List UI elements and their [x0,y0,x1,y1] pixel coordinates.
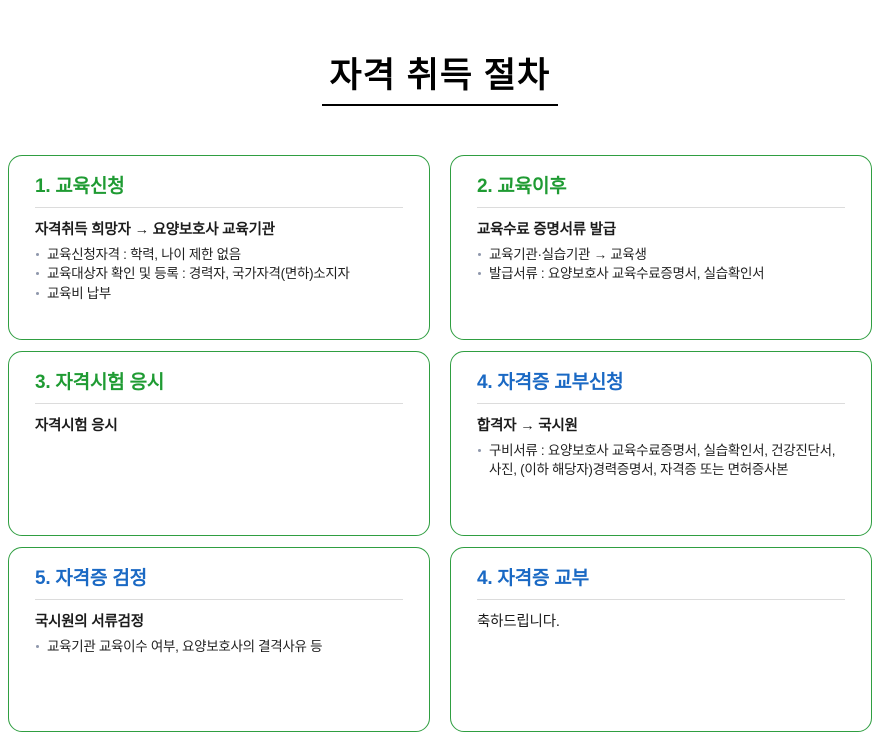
card-title: 5. 자격증 검정 [35,568,403,599]
card-bullet-item: 교육신청자격 : 학력, 나이 제한 없음 [35,245,403,265]
card-lead-text: 자격시험 응시 [35,417,403,437]
process-step-card: 2. 교육이후교육수료 증명서류 발급교육기관·실습기관 → 교육생발급서류 :… [450,155,872,340]
card-bullet-list: 교육신청자격 : 학력, 나이 제한 없음교육대상자 확인 및 등록 : 경력자… [35,245,403,304]
card-title: 4. 자격증 교부신청 [477,372,845,403]
card-lead-text: 국시원의 서류검정 [35,613,403,633]
page-header: 자격 취득 절차 [0,0,880,129]
card-lead-text: 합격자 → 국시원 [477,417,845,437]
card-body: 교육수료 증명서류 발급교육기관·실습기관 → 교육생발급서류 : 요양보호사 … [477,221,845,284]
card-divider [477,599,845,600]
card-bullet-list: 교육기관 교육이수 여부, 요양보호사의 결격사유 등 [35,637,403,657]
card-lead-text: 교육수료 증명서류 발급 [477,221,845,241]
card-title: 4. 자격증 교부 [477,568,845,599]
card-title: 2. 교육이후 [477,176,845,207]
process-step-card: 4. 자격증 교부신청합격자 → 국시원구비서류 : 요양보호사 교육수료증명서… [450,351,872,536]
process-step-card: 5. 자격증 검정국시원의 서류검정교육기관 교육이수 여부, 요양보호사의 결… [8,547,430,732]
card-divider [477,207,845,208]
card-divider [477,403,845,404]
process-step-card: 3. 자격시험 응시자격시험 응시 [8,351,430,536]
card-bullet-item: 교육대상자 확인 및 등록 : 경력자, 국가자격(면하)소지자 [35,264,403,284]
card-bullet-list: 교육기관·실습기관 → 교육생발급서류 : 요양보호사 교육수료증명서, 실습확… [477,245,845,284]
certification-process-infographic: 자격 취득 절차 1. 교육신청자격취득 희망자 → 요양보호사 교육기관교육신… [0,0,880,730]
card-body: 합격자 → 국시원구비서류 : 요양보호사 교육수료증명서, 실습확인서, 건강… [477,417,845,480]
card-divider [35,403,403,404]
card-title: 1. 교육신청 [35,176,403,207]
card-bullet-item: 구비서류 : 요양보호사 교육수료증명서, 실습확인서, 건강진단서, 사진, … [477,441,845,480]
card-body: 축하드립니다. [477,613,845,633]
card-body: 자격취득 희망자 → 요양보호사 교육기관교육신청자격 : 학력, 나이 제한 … [35,221,403,303]
card-body: 자격시험 응시 [35,417,403,437]
process-step-card: 4. 자격증 교부축하드립니다. [450,547,872,732]
card-bullet-item: 교육기관 교육이수 여부, 요양보호사의 결격사유 등 [35,637,403,657]
process-step-card-grid: 1. 교육신청자격취득 희망자 → 요양보호사 교육기관교육신청자격 : 학력,… [0,155,880,732]
process-step-card: 1. 교육신청자격취득 희망자 → 요양보호사 교육기관교육신청자격 : 학력,… [8,155,430,340]
page-title: 자격 취득 절차 [322,57,559,106]
card-lead-text: 축하드립니다. [477,613,845,633]
card-divider [35,207,403,208]
card-title: 3. 자격시험 응시 [35,372,403,403]
card-body: 국시원의 서류검정교육기관 교육이수 여부, 요양보호사의 결격사유 등 [35,613,403,656]
card-divider [35,599,403,600]
card-bullet-item: 교육비 납부 [35,284,403,304]
card-lead-text: 자격취득 희망자 → 요양보호사 교육기관 [35,221,403,241]
card-bullet-list: 구비서류 : 요양보호사 교육수료증명서, 실습확인서, 건강진단서, 사진, … [477,441,845,480]
card-bullet-item: 발급서류 : 요양보호사 교육수료증명서, 실습확인서 [477,264,845,284]
card-bullet-item: 교육기관·실습기관 → 교육생 [477,245,845,265]
